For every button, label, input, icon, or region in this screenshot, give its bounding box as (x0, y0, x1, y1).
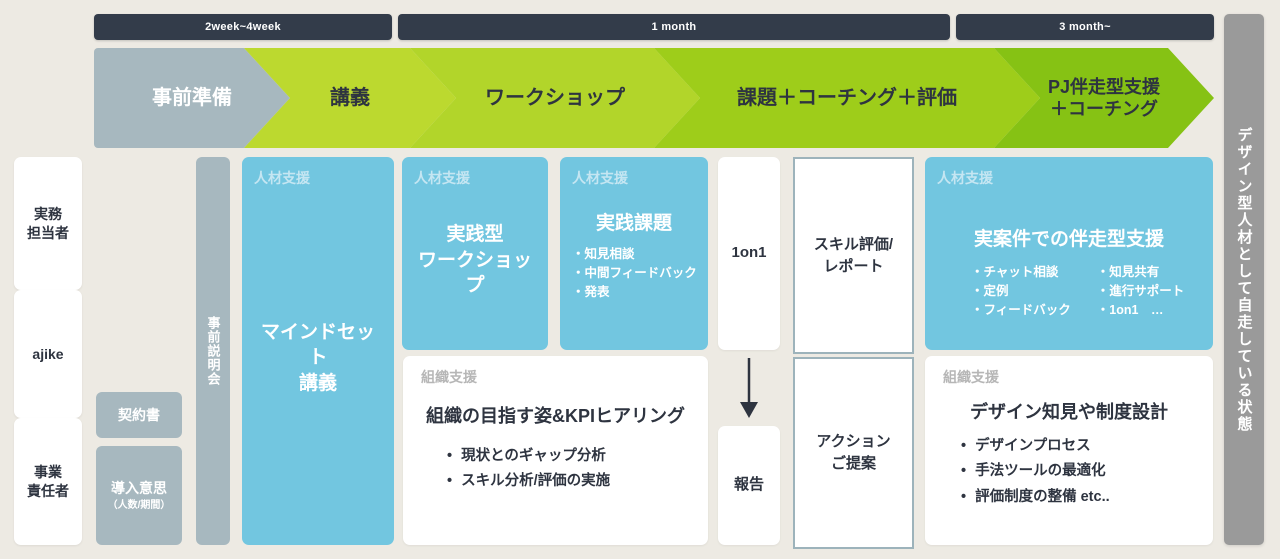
role-label-1: ajike (32, 345, 63, 364)
list-item: 評価制度の整備 etc.. (961, 485, 1195, 510)
card-label-action-line1: アクション (816, 433, 890, 450)
card-label-report: 報告 (734, 475, 764, 495)
list-item: 手法ツールの最適化 (961, 459, 1195, 484)
role-label-0-line1: 実務 (34, 206, 62, 222)
card-practice-task: 人材支援 実践課題 知見相談 中間フィードバック 発表 (560, 157, 708, 350)
card-real-project-support: 人材支援 実案件での伴走型支援 チャット相談 定例 フィードバック 知見共有 進… (925, 157, 1213, 350)
phase-label-0: 事前準備 (152, 86, 232, 111)
card-tag-mindset: 人材支援 (254, 171, 382, 185)
card-title-real-project: 実案件での伴走型支援 (937, 227, 1201, 253)
card-title-workshop-line1: 実践型 (446, 224, 503, 245)
card-title-mindset: マインドセット 講義 (254, 320, 382, 397)
card-title-mindset-line1: マインドセット (261, 322, 375, 369)
card-lists-real-project: チャット相談 定例 フィードバック 知見共有 進行サポート 1on1 … (937, 263, 1201, 321)
phase-label-3: 課題＋コーチング＋評価 (737, 86, 957, 111)
phase-label-4: PJ伴走型支援 ＋コーチング (1048, 76, 1160, 121)
card-org-kpi-hearing: 組織支援 組織の目指す姿&KPIヒアリング 現状とのギャップ分析 スキル分析/評… (403, 356, 708, 545)
list-item: フィードバック (971, 301, 1071, 320)
card-list-real-project-left: チャット相談 定例 フィードバック (971, 263, 1071, 321)
timeline-label-0: 2week~4week (205, 21, 281, 33)
timeline-label-2: 3 month~ (1059, 21, 1111, 33)
list-item: 1on1 … (1097, 301, 1185, 320)
role-card-practitioner: 実務 担当者 (14, 157, 82, 290)
role-label-0: 実務 担当者 (27, 205, 69, 243)
document-label-intent-wrap: 導入意思 （人数/期間） (108, 479, 171, 512)
outcome-label: デザイン型人材として自走している状態 (1234, 127, 1255, 433)
card-skill-evaluation: スキル評価/ レポート (793, 157, 914, 354)
phase-label-4-line2: ＋コーチング (1050, 99, 1158, 119)
briefing-label: 事前説明会 (204, 316, 223, 386)
document-label-intent: 導入意思 (111, 480, 167, 496)
document-card-intent: 導入意思 （人数/期間） (96, 446, 182, 545)
card-list-org-kpi: 現状とのギャップ分析 スキル分析/評価の実施 (421, 444, 690, 495)
card-title-workshop: 実践型 ワークショップ (414, 222, 536, 299)
role-label-0-line2: 担当者 (27, 225, 69, 241)
list-item: 進行サポート (1097, 282, 1185, 301)
card-label-action-line2: ご提案 (831, 455, 876, 472)
timeline-bar-1: 1 month (398, 14, 950, 40)
card-label-one-on-one: 1on1 (731, 243, 766, 263)
list-item: 定例 (971, 282, 1071, 301)
phase-label-2: ワークショップ (485, 86, 625, 111)
card-action-proposal: アクション ご提案 (793, 357, 914, 549)
document-label-contract: 契約書 (118, 406, 160, 424)
briefing-column: 事前説明会 (196, 157, 230, 545)
list-item: 発表 (572, 283, 696, 302)
card-title-org-design: デザイン知見や制度設計 (943, 398, 1195, 424)
card-label-skill-line2: レポート (823, 258, 883, 275)
card-title-mindset-line2: 講義 (299, 373, 337, 394)
list-item: デザインプロセス (961, 434, 1195, 459)
card-list-practice-task: 知見相談 中間フィードバック 発表 (572, 245, 696, 303)
timeline-label-1: 1 month (652, 21, 697, 33)
role-label-2-line1: 事業 (34, 464, 62, 480)
role-label-2: 事業 責任者 (27, 463, 69, 501)
phase-ribbon: 事前準備 講義 ワークショップ 課題＋コーチング＋評価 PJ伴走型支援 ＋コーチ… (94, 48, 1214, 148)
outcome-bar: デザイン型人材として自走している状態 (1224, 14, 1264, 545)
phase-label-4-line1: PJ伴走型支援 (1048, 77, 1160, 97)
list-item: チャット相談 (971, 263, 1071, 282)
card-list-org-design: デザインプロセス 手法ツールの最適化 評価制度の整備 etc.. (943, 434, 1195, 510)
down-arrow-icon (733, 358, 765, 420)
card-title-workshop-line2: ワークショップ (418, 250, 532, 297)
card-tag-org-kpi: 組織支援 (421, 370, 690, 384)
timeline-bar-0: 2week~4week (94, 14, 392, 40)
card-tag-real-project: 人材支援 (937, 171, 1201, 185)
card-tag-org-design: 組織支援 (943, 370, 1195, 384)
role-card-business-owner: 事業 責任者 (14, 418, 82, 545)
roadmap-diagram: 2week~4week 1 month 3 month~ 事前準備 講義 ワーク… (0, 0, 1280, 559)
card-org-design-system: 組織支援 デザイン知見や制度設計 デザインプロセス 手法ツールの最適化 評価制度… (925, 356, 1213, 545)
card-label-skill-line1: スキル評価/ (814, 236, 893, 253)
document-sublabel-intent: （人数/期間） (108, 499, 171, 512)
card-tag-workshop: 人材支援 (414, 171, 536, 185)
card-title-org-kpi: 組織の目指す姿&KPIヒアリング (421, 402, 690, 428)
list-item: 中間フィードバック (572, 264, 696, 283)
list-item: スキル分析/評価の実施 (447, 469, 690, 494)
phase-chevron-task-coaching: 課題＋コーチング＋評価 (654, 48, 1040, 148)
card-practical-workshop: 人材支援 実践型 ワークショップ (402, 157, 548, 350)
list-item: 知見相談 (572, 245, 696, 264)
card-one-on-one: 1on1 (718, 157, 780, 350)
document-card-contract: 契約書 (96, 392, 182, 438)
card-tag-practice-task: 人材支援 (572, 171, 696, 185)
card-label-skill-evaluation: スキル評価/ レポート (814, 234, 893, 278)
list-item: 現状とのギャップ分析 (447, 444, 690, 469)
card-list-real-project-right: 知見共有 進行サポート 1on1 … (1097, 263, 1185, 321)
card-label-action-proposal: アクション ご提案 (816, 431, 890, 475)
card-report: 報告 (718, 426, 780, 545)
list-item: 知見共有 (1097, 263, 1185, 282)
role-card-ajike: ajike (14, 290, 82, 418)
card-mindset-lecture: 人材支援 マインドセット 講義 (242, 157, 394, 545)
card-title-practice-task: 実践課題 (572, 211, 696, 237)
role-label-2-line2: 責任者 (27, 483, 69, 499)
timeline-bar-2: 3 month~ (956, 14, 1214, 40)
phase-label-1: 講義 (330, 86, 370, 111)
